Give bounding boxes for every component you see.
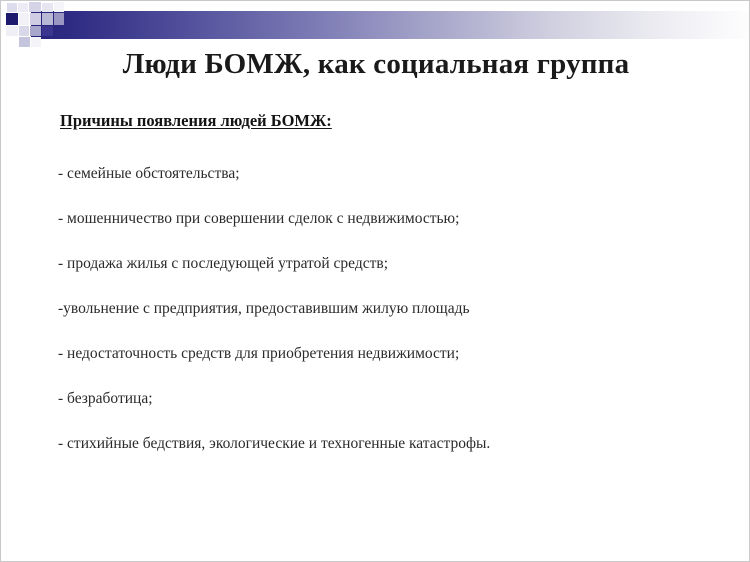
mosaic-square-icon [19, 37, 30, 47]
header-decoration [1, 1, 750, 49]
list-item: - семейные обстоятельства; [58, 139, 698, 184]
list-item: - стихийные бедствия, экологические и те… [58, 409, 698, 454]
list-item: - недостаточность средств для приобретен… [58, 319, 698, 364]
list-item: - мошенничество при совершении сделок с … [58, 184, 698, 229]
list-item: - безработица; [58, 364, 698, 409]
slide-title: Люди БОМЖ, как социальная группа [1, 48, 750, 81]
mosaic-square-icon [54, 13, 64, 25]
presentation-slide: Люди БОМЖ, как социальная группа Причины… [0, 0, 750, 562]
list-item: - продажа жилья с последующей утратой ср… [58, 229, 698, 274]
mosaic-square-icon [54, 2, 64, 12]
mosaic-square-accent-icon [6, 13, 18, 25]
mosaic-square-icon [19, 13, 29, 25]
mosaic-square-icon [42, 13, 53, 25]
section-heading: Причины появления людей БОМЖ: [60, 111, 698, 131]
mosaic-square-icon [29, 2, 41, 12]
mosaic-square-icon [18, 3, 28, 12]
mosaic-square-icon [31, 37, 41, 47]
mosaic-square-icon [7, 3, 17, 12]
mosaic-square-icon [42, 3, 53, 12]
mosaic-square-accent-icon [42, 26, 53, 36]
mosaic-square-icon [30, 13, 41, 25]
list-item: -увольнение с предприятия, предоставивши… [58, 274, 698, 319]
mosaic-square-icon [19, 26, 29, 36]
header-gradient-bar [31, 11, 749, 39]
mosaic-square-icon [6, 26, 18, 36]
reasons-list: - семейные обстоятельства; - мошенничест… [58, 139, 698, 454]
slide-body: Причины появления людей БОМЖ: - семейные… [58, 111, 698, 454]
mosaic-square-icon [30, 26, 41, 36]
